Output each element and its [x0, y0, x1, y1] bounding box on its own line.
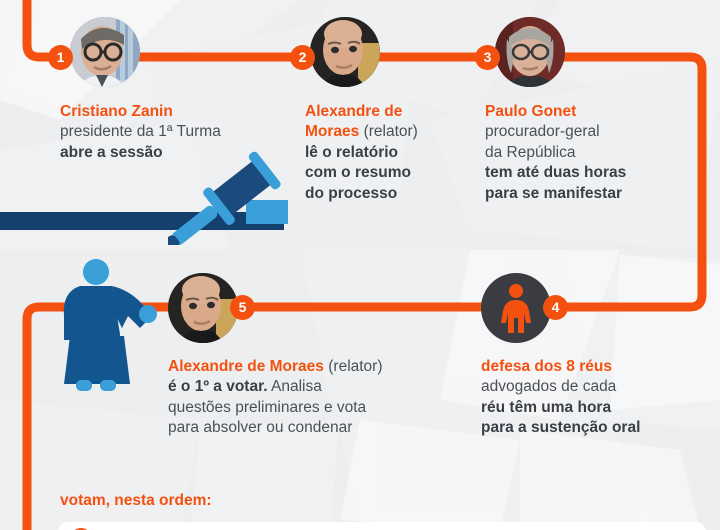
bottom-card — [58, 522, 706, 530]
step-4-line-4: para a sustenção oral — [481, 419, 640, 436]
avatar-alexandre-de-moraes — [310, 17, 380, 87]
step-5-line-1: Alexandre de Moraes — [168, 358, 324, 375]
step-text-5: Alexandre de Moraes (relator) é o 1º a v… — [168, 357, 383, 439]
step-text-4: defesa dos 8 réus advogados de cada réu … — [481, 357, 640, 439]
step-2-line-5: do processo — [305, 185, 397, 202]
step-text-3: Paulo Gonet procurador-geral da Repúblic… — [485, 102, 626, 204]
votam-order-label: votam, nesta ordem: — [60, 492, 212, 510]
step-1-line-3: abre a sessão — [60, 144, 163, 161]
step-badge-1: 1 — [48, 45, 73, 70]
step-1-line-1: Cristiano Zanin — [60, 103, 173, 120]
step-2-line-2: Moraes — [305, 123, 359, 140]
step-3-line-3: da República — [485, 144, 575, 161]
step-text-1: Cristiano Zanin presidente da 1ª Turma a… — [60, 102, 221, 163]
step-4-line-3: réu têm uma hora — [481, 399, 611, 416]
step-text-2: Alexandre de Moraes (relator) lê o relat… — [305, 102, 418, 204]
step-5-line-1-suffix: (relator) — [324, 358, 383, 375]
step-3-line-5: para se manifestar — [485, 185, 622, 202]
step-badge-2: 2 — [290, 45, 315, 70]
step-4-line-2: advogados de cada — [481, 378, 616, 395]
infographic-canvas: 1 Cristiano Zanin presidente da 1ª Turma… — [0, 0, 720, 530]
step-badge-3: 3 — [475, 45, 500, 70]
step-2-line-3: lê o relatório — [305, 144, 398, 161]
step-5-line-2-suffix: Analisa — [268, 378, 322, 395]
step-2-line-2-suffix: (relator) — [359, 123, 418, 140]
step-5-line-2: é o 1º a votar. — [168, 378, 268, 395]
avatar-alexandre-de-moraes-2 — [168, 273, 238, 343]
person-silhouette-icon — [495, 283, 537, 333]
step-3-line-4: tem até duas horas — [485, 164, 626, 181]
step-1-line-2: presidente da 1ª Turma — [60, 123, 221, 140]
step-5-line-4: para absolver ou condenar — [168, 419, 352, 436]
avatar-cristiano-zanin — [70, 17, 140, 87]
step-3-line-1: Paulo Gonet — [485, 103, 576, 120]
judge-figure-illustration — [52, 258, 162, 398]
person-icon-circle — [481, 273, 551, 343]
step-4-line-1: defesa dos 8 réus — [481, 358, 612, 375]
step-2-line-4: com o resumo — [305, 164, 411, 181]
gavel-illustration — [168, 150, 308, 245]
step-3-line-2: procurador-geral — [485, 123, 600, 140]
step-5-line-3: questões preliminares e vota — [168, 399, 366, 416]
step-2-line-1: Alexandre de — [305, 103, 402, 120]
step-badge-4: 4 — [543, 295, 568, 320]
step-badge-5: 5 — [230, 295, 255, 320]
avatar-paulo-gonet — [495, 17, 565, 87]
